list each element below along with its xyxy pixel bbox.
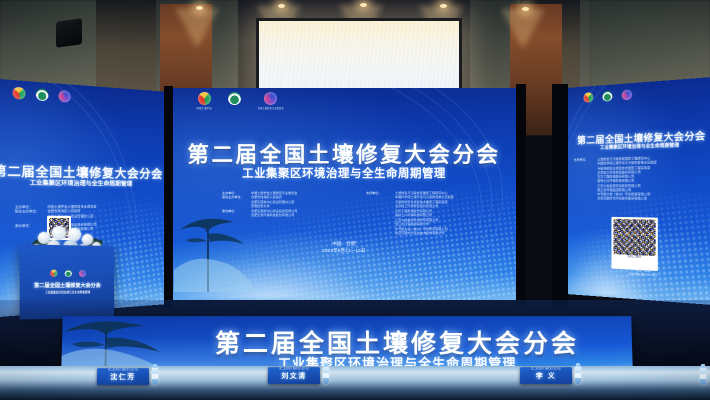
podium-logo-row <box>20 270 114 277</box>
china-soil-society-logo <box>50 270 57 277</box>
china-soil-society-logo <box>583 92 593 103</box>
soil-remediation-committee-logo <box>78 270 85 277</box>
ceiling-speaker-icon <box>56 18 82 48</box>
organizer-label <box>574 196 596 200</box>
right-panel-support-list: 支持单位：土壤修复与污染修复国家工程研究中心中国科学院土壤环境与污染修复重点实验… <box>574 156 657 201</box>
environment-association-logo <box>64 270 71 277</box>
qr-code-icon[interactable] <box>613 219 655 256</box>
logo-caption: 全国土壤修复大会组委会 <box>258 106 284 110</box>
panel-gap <box>164 86 173 308</box>
environment-association-logo <box>36 88 49 101</box>
qr-caption: 扫码二维码 <box>613 254 655 259</box>
nameplate: 第二届全国土壤修复大会分会 刘文清 <box>268 367 320 384</box>
main-led-screen: 中国土壤学会 全国土壤修复大会组委会 第二届全国土壤修复大会分会 工业集聚区环境… <box>170 88 518 300</box>
nameplate: 第二届全国土壤修复大会分会 沈仁芳 <box>97 368 149 385</box>
screen-logo-row: 中国土壤学会 全国土壤修复大会组委会 <box>196 92 285 110</box>
panel-gap <box>552 84 568 310</box>
venue-date: 2023年6月13—15日 <box>170 247 518 254</box>
nameplate-name: 沈仁芳 <box>97 372 149 382</box>
podium-title: 第二届全国土壤修复大会分会 <box>20 282 114 289</box>
logo-caption: 中国土壤学会 <box>196 106 211 110</box>
nameplate: 第二届全国土壤修复大会分会 李 义 <box>520 367 572 384</box>
environment-association-logo <box>228 92 241 106</box>
organizer-row: 北京高能时代环境技术股份有限公司 <box>366 231 454 235</box>
nameplate-name: 李 义 <box>520 371 572 381</box>
soil-remediation-committee-logo: 全国土壤修复大会组委会 <box>257 92 284 110</box>
organizer-label <box>366 231 392 235</box>
organizer-row: 合肥天源环保科技股份有限公司 <box>222 213 297 217</box>
panel-gap <box>516 84 526 306</box>
venue-info: 中国 · 合肥 2023年6月13—15日 <box>170 240 518 255</box>
organizer-list-right: 支持单位：土壤修复与污染修复国家工程研究中心中国科学院土壤环境与污染修复重点实验… <box>366 191 454 236</box>
china-soil-society-logo: 中国土壤学会 <box>196 92 212 110</box>
organizer-list-left: 主办单位：中国土壤学会土壤修复专业委员会联合主办单位：合肥市瑶海区人民政府合肥东… <box>222 191 297 218</box>
organizer-label <box>222 213 248 217</box>
podium-subtitle: 工业集聚区环境治理与全生命周期管理 <box>20 290 114 294</box>
china-soil-society-logo <box>13 87 26 100</box>
soil-remediation-committee-logo <box>59 90 71 103</box>
organizer-value: 合肥天源环保科技股份有限公司 <box>251 213 294 217</box>
organizer-value: 北京高能时代环境技术股份有限公司 <box>395 231 445 235</box>
qr-code-block[interactable]: 扫码二维码 <box>611 217 657 271</box>
organizer-row: 北京高能时代环境技术股份有限公司 <box>574 196 657 201</box>
water-bottle <box>700 367 706 385</box>
venue-city: 中国 · 合肥 <box>170 240 518 247</box>
environment-association-logo <box>602 91 612 102</box>
spotlight-beam <box>501 9 545 49</box>
nameplate-name: 刘文清 <box>268 371 320 381</box>
water-bottle <box>575 366 581 384</box>
head-table: 第二届全国土壤修复大会分会 沈仁芳 第二届全国土壤修复大会分会 刘文清 第二届全… <box>0 366 710 400</box>
spotlight-beam <box>175 8 219 48</box>
conference-hall-photo: 中国土壤学会 全国土壤修复大会组委会 第二届全国土壤修复大会分会 工业集聚区环境… <box>0 0 710 400</box>
conference-subtitle: 工业集聚区环境治理与全生命周期管理 <box>170 165 518 181</box>
left-panel-subtitle: 工业集聚区环境治理与全生命周期管理 <box>0 178 168 188</box>
right-led-panel: 第二届全国土壤修复大会分会 工业集聚区环境治理与全生命周期管理 支持单位：土壤修… <box>566 77 710 306</box>
soil-remediation-committee-logo <box>622 89 632 100</box>
water-bottle <box>323 366 329 384</box>
organizer-value: 北京高能时代环境技术股份有限公司 <box>597 196 647 201</box>
stage-front-banner: 第二届全国土壤修复大会分会 工业集聚区环境治理与全生命周期管理 <box>61 316 633 372</box>
water-bottle <box>152 367 158 385</box>
